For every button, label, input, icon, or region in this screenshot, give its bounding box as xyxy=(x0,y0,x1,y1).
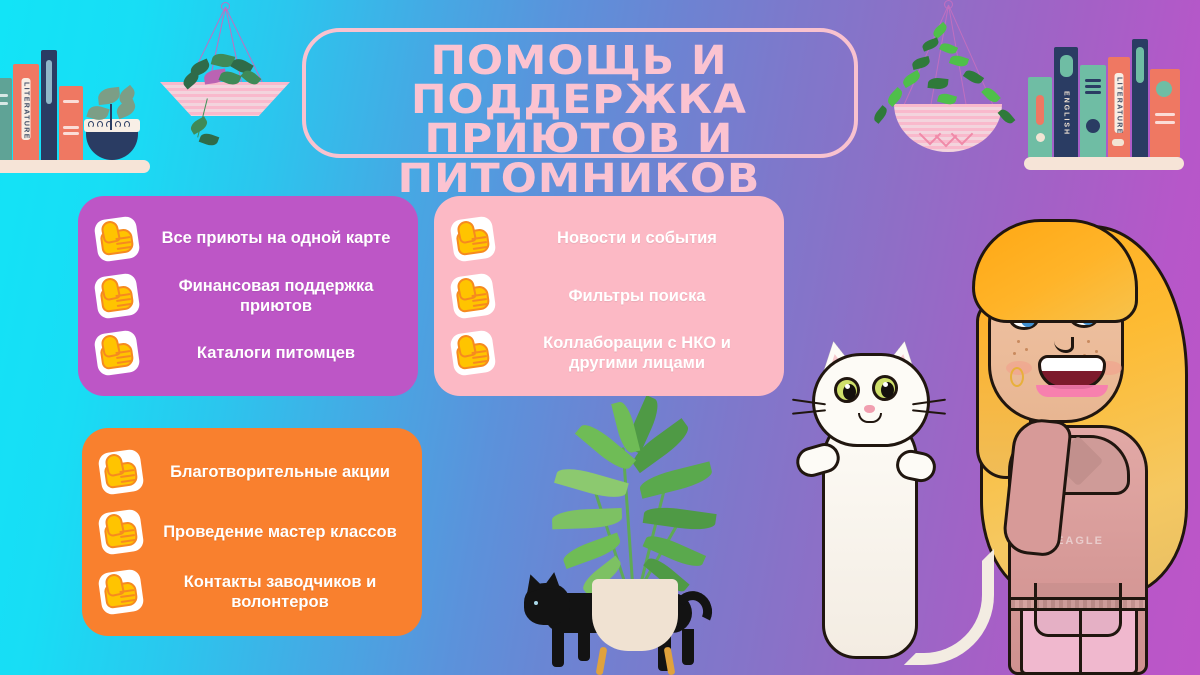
girl-arm xyxy=(1001,416,1073,557)
title-line-2: ПРИЮТОВ И ПИТОМНИКОВ xyxy=(279,120,879,198)
page-title: ПОМОЩЬ И ПОДДЕРЖКА ПРИЮТОВ И ПИТОМНИКОВ xyxy=(279,42,879,199)
potted-palm-and-cat-scene xyxy=(500,425,770,675)
list-item-label: Все приюты на одной карте xyxy=(152,228,400,248)
list-item-label: Новости и события xyxy=(508,228,766,248)
list-item-label: Проведение мастер классов xyxy=(156,522,404,542)
thumbs-up-icon xyxy=(96,332,138,374)
earring-icon xyxy=(1010,367,1024,387)
list-item: Благотворительные акции xyxy=(100,451,404,493)
book-label: ENGLISH xyxy=(1062,81,1071,147)
list-item: Финансовая поддержка приютов xyxy=(96,275,400,317)
list-item-label: Фильтры поиска xyxy=(508,286,766,306)
book xyxy=(1150,69,1180,157)
feature-card-purple: Все приюты на одной карте Финансовая под… xyxy=(78,196,418,396)
book-label: LITERATURE xyxy=(22,78,31,140)
title-line-1: ПОМОЩЬ И ПОДДЕРЖКА xyxy=(279,42,879,120)
list-item-label: Коллаборации с НКО и другими лицами xyxy=(508,333,766,374)
thumbs-up-icon xyxy=(452,218,494,260)
thumbs-up-icon xyxy=(96,218,138,260)
list-item-label: Контакты заводчиков и волонтеров xyxy=(156,572,404,613)
book-english: ENGLISH xyxy=(1054,47,1078,157)
list-item: Каталоги питомцев xyxy=(96,332,400,374)
shelf-board xyxy=(0,160,150,173)
girl-hoodie xyxy=(1008,425,1148,675)
list-item: Коллаборации с НКО и другими лицами xyxy=(452,332,766,374)
thumbs-up-icon xyxy=(452,332,494,374)
book xyxy=(1080,65,1106,157)
book xyxy=(59,86,83,160)
hoodie-cuff xyxy=(1008,597,1148,611)
list-item: Новости и события xyxy=(452,218,766,260)
plant-pot xyxy=(592,579,678,651)
list-item-label: Каталоги питомцев xyxy=(152,343,400,363)
thumbs-up-icon xyxy=(100,571,142,613)
potted-plant-icon xyxy=(86,130,138,160)
thumbs-up-icon xyxy=(100,511,142,553)
white-cat-body xyxy=(822,413,918,659)
girl-face xyxy=(988,261,1124,423)
book-literature: LITERATURE xyxy=(13,64,39,160)
list-item: Проведение мастер классов xyxy=(100,511,404,553)
hoodie-hood xyxy=(1026,435,1130,495)
book xyxy=(1132,39,1148,157)
hanging-planter-left-icon xyxy=(160,2,290,152)
white-cat-paw-right xyxy=(893,447,938,485)
book xyxy=(1028,77,1052,157)
black-cat-head xyxy=(524,583,570,625)
girl-nose xyxy=(1054,337,1074,353)
list-item: Фильтры поиска xyxy=(452,275,766,317)
list-item: Контакты заводчиков и волонтеров xyxy=(100,571,404,613)
thumbs-up-icon xyxy=(100,451,142,493)
hanger-ring xyxy=(221,2,230,11)
list-item: Все приюты на одной карте xyxy=(96,218,400,260)
white-cat-nose xyxy=(864,405,875,413)
girl-mouth xyxy=(1038,355,1106,389)
list-item-label: Благотворительные акции xyxy=(156,462,404,482)
feature-card-orange: Благотворительные акции Проведение масте… xyxy=(82,428,422,636)
bookshelf-right-icon: ENGLISH LITERATURE xyxy=(1024,20,1184,170)
hoodie-brand-text: EAGLE xyxy=(1056,535,1104,547)
shelf-board xyxy=(1024,157,1184,170)
book-label: LITERATURE xyxy=(1115,73,1124,133)
book xyxy=(41,50,57,160)
book xyxy=(0,78,12,160)
book-literature-2: LITERATURE xyxy=(1108,57,1130,157)
girl-hair-front xyxy=(972,219,1138,323)
white-cat-head xyxy=(812,353,930,447)
hanger-ring xyxy=(944,0,953,9)
bookshelf-left-icon: LITERATURE xyxy=(0,58,150,173)
girl-pants xyxy=(1020,601,1138,675)
white-cat-paw-left xyxy=(793,440,844,481)
girl-hair-back xyxy=(980,225,1188,597)
thumbs-up-icon xyxy=(452,275,494,317)
hanging-planter-right-icon xyxy=(878,0,1018,170)
thumbs-up-icon xyxy=(96,275,138,317)
girl-avatar-icon: EAGLE xyxy=(800,189,1200,675)
list-item-label: Финансовая поддержка приютов xyxy=(152,276,400,317)
girl-hair-side xyxy=(976,299,1032,479)
white-cat-tail xyxy=(904,549,994,665)
black-cat-icon xyxy=(544,593,692,633)
hoodie-pocket xyxy=(1034,583,1122,637)
feature-card-pink: Новости и события Фильтры поиска Коллабо… xyxy=(434,196,784,396)
